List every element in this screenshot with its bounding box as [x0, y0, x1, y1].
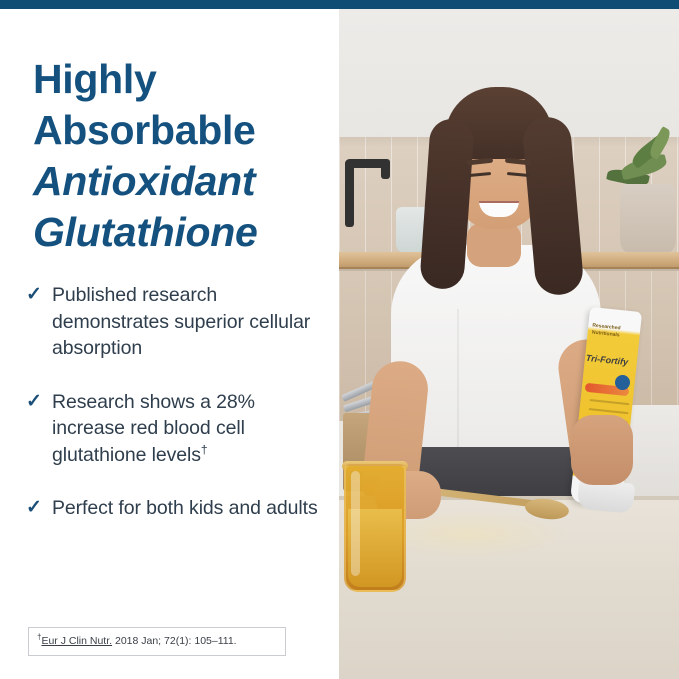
check-icon: ✓ [26, 282, 52, 308]
list-item: ✓ Research shows a 28% increase red bloo… [26, 389, 326, 469]
promo-banner: Highly Absorbable Antioxidant Glutathion… [0, 0, 679, 679]
benefit-text: Published research demonstrates superior… [52, 282, 326, 362]
check-icon: ✓ [26, 495, 52, 521]
amber-jar-highlight [351, 471, 360, 576]
lifestyle-photo: Researched Nutritionals Tri-Fortify [339, 9, 679, 679]
citation-box: †Eur J Clin Nutr. 2018 Jan; 72(1): 105–1… [28, 627, 286, 656]
benefit-text: Perfect for both kids and adults [52, 495, 326, 522]
benefit-text: Research shows a 28% increase red blood … [52, 389, 326, 469]
hand-holding-tube [571, 415, 633, 485]
headline-line-1: Highly [33, 54, 323, 105]
benefit-list: ✓ Published research demonstrates superi… [26, 282, 326, 549]
shirt-fold [457, 309, 459, 459]
faucet-icon [345, 161, 354, 227]
faucet-tip [381, 159, 390, 179]
journal-name: Eur J Clin Nutr. [41, 635, 112, 647]
woman-neck [467, 223, 521, 267]
list-item: ✓ Perfect for both kids and adults [26, 495, 326, 522]
citation-text: †Eur J Clin Nutr. 2018 Jan; 72(1): 105–1… [37, 635, 237, 648]
headline-line-4: Glutathione [33, 207, 323, 258]
plant-pot [620, 184, 676, 256]
headline-line-2: Absorbable [33, 105, 323, 156]
top-accent-bar [0, 0, 679, 9]
page-title: Highly Absorbable Antioxidant Glutathion… [33, 54, 323, 258]
list-item: ✓ Published research demonstrates superi… [26, 282, 326, 362]
citation-details: 2018 Jan; 72(1): 105–111. [112, 635, 237, 647]
check-icon: ✓ [26, 389, 52, 415]
left-content-panel: Highly Absorbable Antioxidant Glutathion… [0, 9, 339, 679]
footnote-marker: † [201, 442, 208, 456]
headline-line-3: Antioxidant [33, 156, 323, 207]
